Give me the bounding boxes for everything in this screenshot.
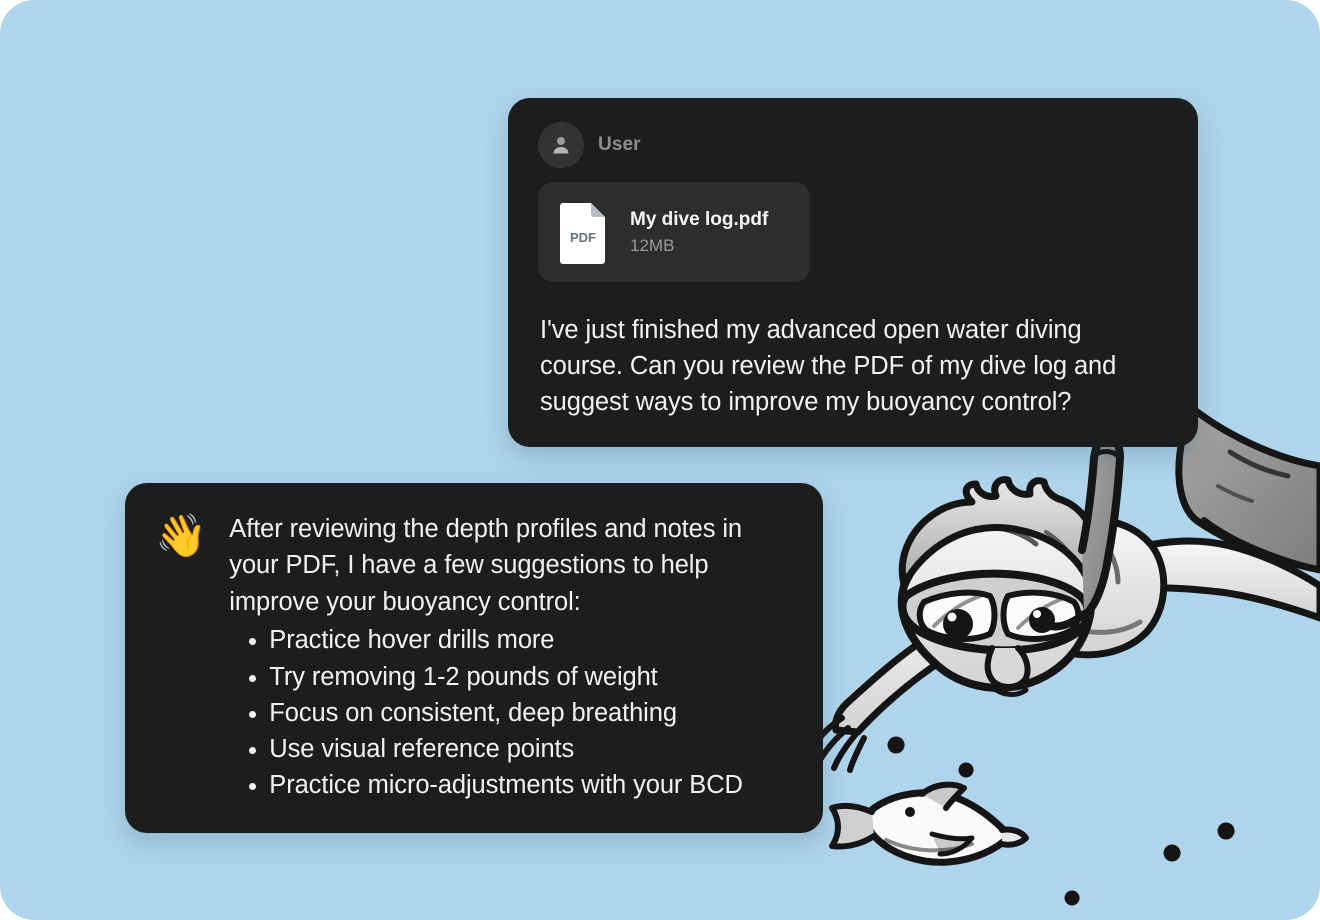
screen: User PDF My dive log.pdf 12MB I've just … [0,0,1320,920]
pdf-icon-label: PDF [570,230,596,245]
user-message-bubble: User PDF My dive log.pdf 12MB I've just … [508,98,1198,447]
suggestion-list: Practice hover drills moreTry removing 1… [229,622,793,803]
suggestion-item: Try removing 1-2 pounds of weight [229,659,793,695]
assistant-message-bubble: 👋 After reviewing the depth profiles and… [125,483,823,833]
suggestion-item: Practice micro-adjustments with your BCD [229,767,793,803]
suggestion-item: Practice hover drills more [229,622,793,658]
snorkeler-diver-illustration [800,400,1320,920]
suggestion-item: Focus on consistent, deep breathing [229,695,793,731]
user-message-header: User [538,122,1172,168]
assistant-message-body: After reviewing the depth profiles and n… [229,511,793,803]
attachment-filename: My dive log.pdf [630,209,768,231]
user-message-text: I've just finished my advanced open wate… [540,312,1168,421]
attachment-filesize: 12MB [630,236,768,256]
attachment-info: My dive log.pdf 12MB [630,209,768,256]
avatar [538,122,584,168]
pdf-file-icon: PDF [558,200,610,264]
assistant-intro-text: After reviewing the depth profiles and n… [229,511,793,620]
person-icon [549,133,573,157]
waving-hand-icon: 👋 [155,515,207,557]
suggestion-item: Use visual reference points [229,731,793,767]
user-author-label: User [598,134,641,156]
attachment-card[interactable]: PDF My dive log.pdf 12MB [538,182,810,282]
